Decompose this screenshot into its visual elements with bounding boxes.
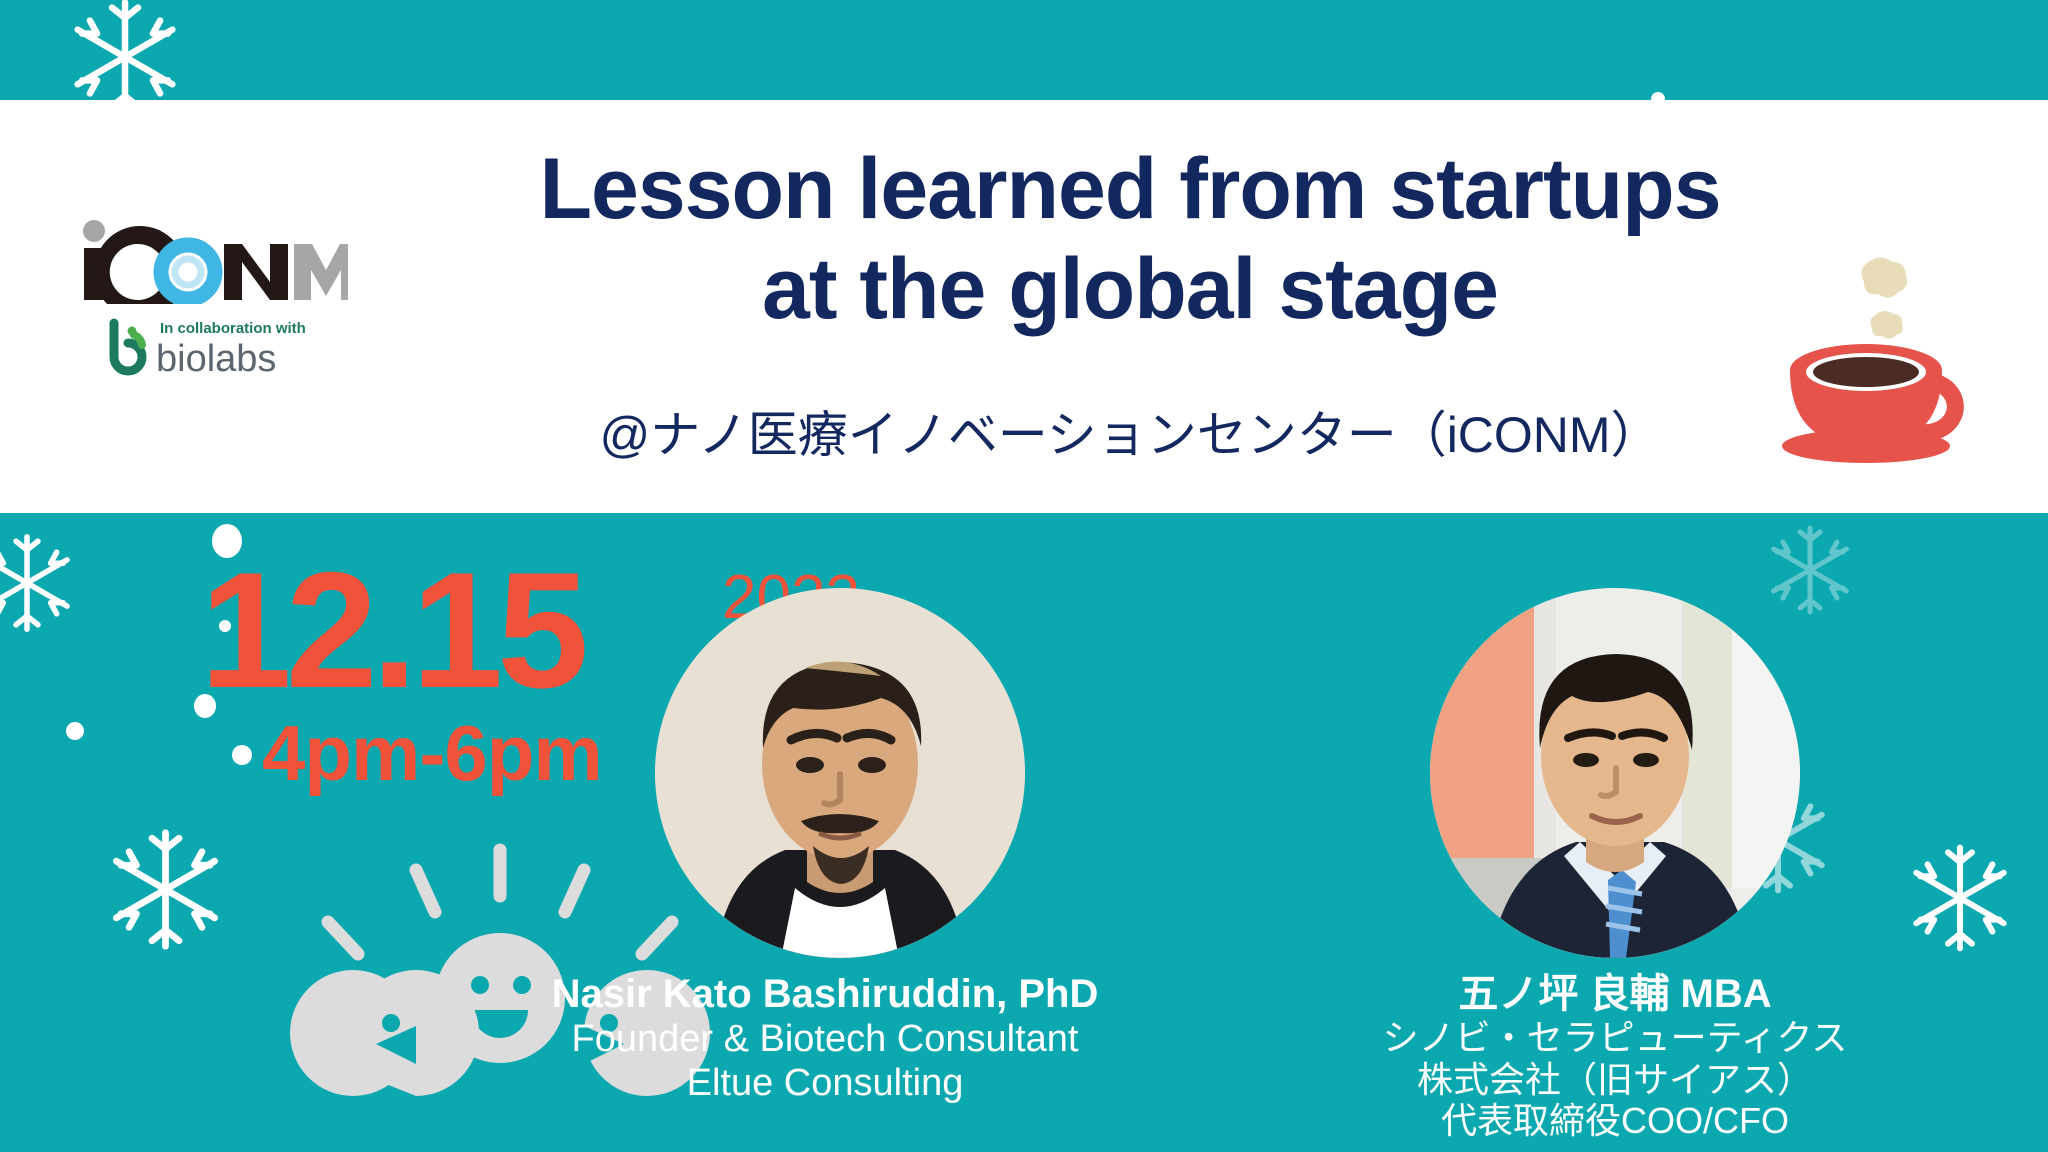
speaker-title: 代表取締役COO/CFO <box>1355 1100 1875 1142</box>
logo-block: In collaboration with biolabs <box>78 218 418 384</box>
avatar <box>655 588 1025 958</box>
top-teal-band <box>0 0 2048 100</box>
speaker-org-line-2: 株式会社（旧サイアス） <box>1355 1059 1875 1101</box>
biolabs-logo-mark: In collaboration with biolabs <box>100 315 350 379</box>
speaker-name: 五ノ坪 良輔 MBA <box>1355 972 1875 1017</box>
speaker-org-line-1: シノビ・セラピューティクス <box>1355 1017 1875 1059</box>
avatar <box>1430 588 1800 958</box>
coffee-cup-icon <box>1770 250 1970 470</box>
snow-dot <box>1651 92 1665 106</box>
page-title: Lesson learned from startups at the glob… <box>420 140 1840 340</box>
biolabs-logo: In collaboration with biolabs <box>100 315 418 384</box>
steam-puff-small <box>1870 311 1902 339</box>
biolabs-wordmark-text: biolabs <box>156 338 276 379</box>
venue-subtitle: @ナノ医療イノベーションセンター（iCONM） <box>420 408 1840 463</box>
speaker-role: Founder & Biotech Consultant <box>550 1017 1100 1061</box>
iconm-logo-mark <box>78 218 348 304</box>
speaker-portrait <box>1430 588 1800 958</box>
speaker-card: 五ノ坪 良輔 MBA シノビ・セラピューティクス 株式会社（旧サイアス） 代表取… <box>1355 588 1875 1142</box>
speaker-name: Nasir Kato Bashiruddin, PhD <box>550 972 1100 1017</box>
speaker-org: Eltue Consulting <box>550 1061 1100 1105</box>
speaker-portrait <box>655 588 1025 958</box>
iconm-logo <box>78 218 418 309</box>
headline-line-2: at the global stage <box>420 240 1840 340</box>
headline-line-1: Lesson learned from startups <box>420 140 1840 240</box>
snow-dot <box>66 722 84 740</box>
biolabs-collab-text: In collaboration with <box>160 320 306 337</box>
event-date: 12.15 <box>200 548 583 713</box>
steam-puff-large <box>1861 257 1907 297</box>
event-time: 4pm-6pm <box>262 708 602 799</box>
speaker-card: Nasir Kato Bashiruddin, PhD Founder & Bi… <box>580 588 1100 1105</box>
event-poster: In collaboration with biolabs Lesson lea… <box>0 0 2048 1152</box>
